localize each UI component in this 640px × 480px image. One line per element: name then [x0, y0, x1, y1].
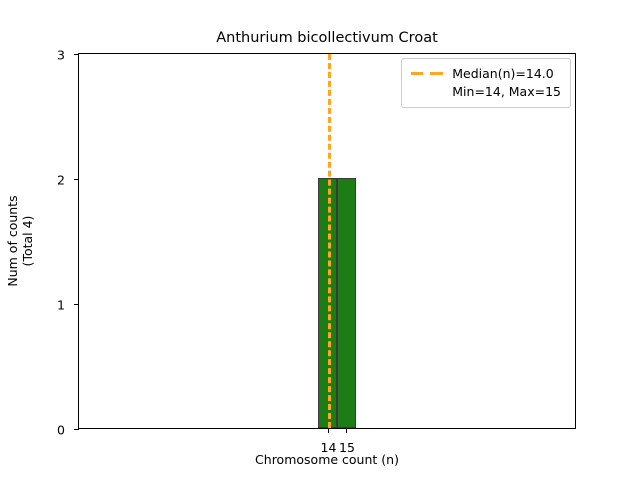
y-tick-1: 1	[74, 304, 79, 305]
plot-area: 0 1 2 3 14 15	[78, 53, 576, 429]
chart-legend: Median(n)=14.0 Min=14, Max=15	[401, 58, 571, 108]
legend-row: Median(n)=14.0 Min=14, Max=15	[411, 65, 561, 100]
x-tick-14: 14	[328, 428, 329, 433]
y-tick-2: 2	[74, 179, 79, 180]
median-line	[328, 54, 331, 428]
page-title: Anthurium bicollectivum Croat	[78, 30, 576, 46]
y-tick-label-0: 0	[57, 422, 65, 437]
y-tick-label-2: 2	[57, 172, 65, 187]
bar-15	[337, 178, 357, 429]
median-dashed-line-icon	[411, 68, 443, 80]
legend-label-median: Median(n)=14.0	[452, 65, 561, 83]
legend-label-minmax: Min=14, Max=15	[452, 83, 561, 101]
y-tick-3: 3	[74, 54, 79, 55]
chart-figure: Anthurium bicollectivum Croat Num of cou…	[0, 0, 640, 480]
y-tick-label-3: 3	[57, 47, 65, 62]
y-tick-0: 0	[74, 429, 79, 430]
x-tick-15: 15	[346, 428, 347, 433]
y-tick-label-1: 1	[57, 297, 65, 312]
x-axis-label: Chromosome count (n)	[78, 452, 576, 467]
y-axis-label: Num of counts (Total 4)	[6, 53, 34, 429]
